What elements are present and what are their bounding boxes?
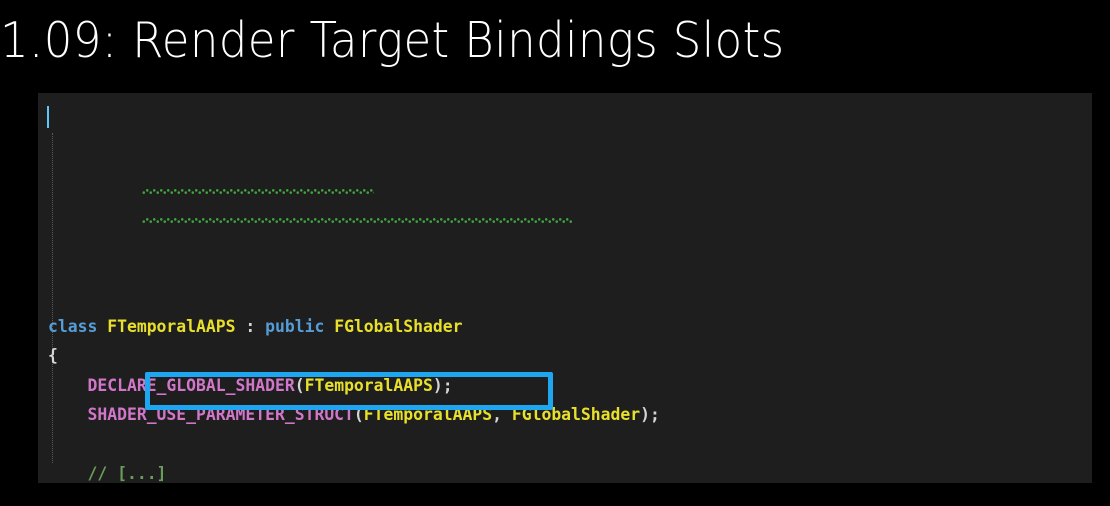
error-squiggle: [142, 189, 374, 194]
code-token: FTemporalAAPS: [364, 405, 492, 424]
code-line: [38, 430, 1092, 460]
code-token: (: [295, 376, 305, 395]
code-token: DECLARE_GLOBAL_SHADER: [87, 376, 294, 395]
code-line-list: class FTemporalAAPS : public FGlobalShad…: [38, 312, 1092, 484]
code-token: class: [48, 317, 107, 336]
code-token: [48, 376, 87, 395]
code-token: ,: [492, 405, 512, 424]
code-token: FTemporalAAPS: [107, 317, 235, 336]
code-line: DECLARE_GLOBAL_SHADER(FTemporalAAPS);: [38, 371, 1092, 401]
code-token: [48, 405, 87, 424]
code-token: public: [265, 317, 334, 336]
code-token: {: [48, 346, 58, 365]
error-squiggle: [142, 218, 572, 223]
code-token: );: [640, 405, 660, 424]
code-token: FTemporalAAPS: [305, 376, 433, 395]
code-screenshot-panel: class FTemporalAAPS : public FGlobalShad…: [38, 93, 1092, 483]
code-token: );: [433, 376, 453, 395]
code-line: // [...]: [38, 459, 1092, 483]
text-caret: [47, 106, 49, 128]
code-token: // [...]: [87, 464, 166, 483]
code-line: class FTemporalAAPS : public FGlobalShad…: [38, 312, 1092, 342]
code-token: (: [354, 405, 364, 424]
code-token: FGlobalShader: [512, 405, 640, 424]
code-token: :: [236, 317, 266, 336]
code-editor-text[interactable]: class FTemporalAAPS : public FGlobalShad…: [38, 93, 1092, 483]
code-token: [48, 464, 87, 483]
page-title: 1.09: Render Target Bindings Slots: [0, 0, 1021, 84]
code-token: SHADER_USE_PARAMETER_STRUCT: [87, 405, 353, 424]
code-token: FGlobalShader: [334, 317, 462, 336]
code-line: {: [38, 341, 1092, 371]
code-line: SHADER_USE_PARAMETER_STRUCT(FTemporalAAP…: [38, 400, 1092, 430]
